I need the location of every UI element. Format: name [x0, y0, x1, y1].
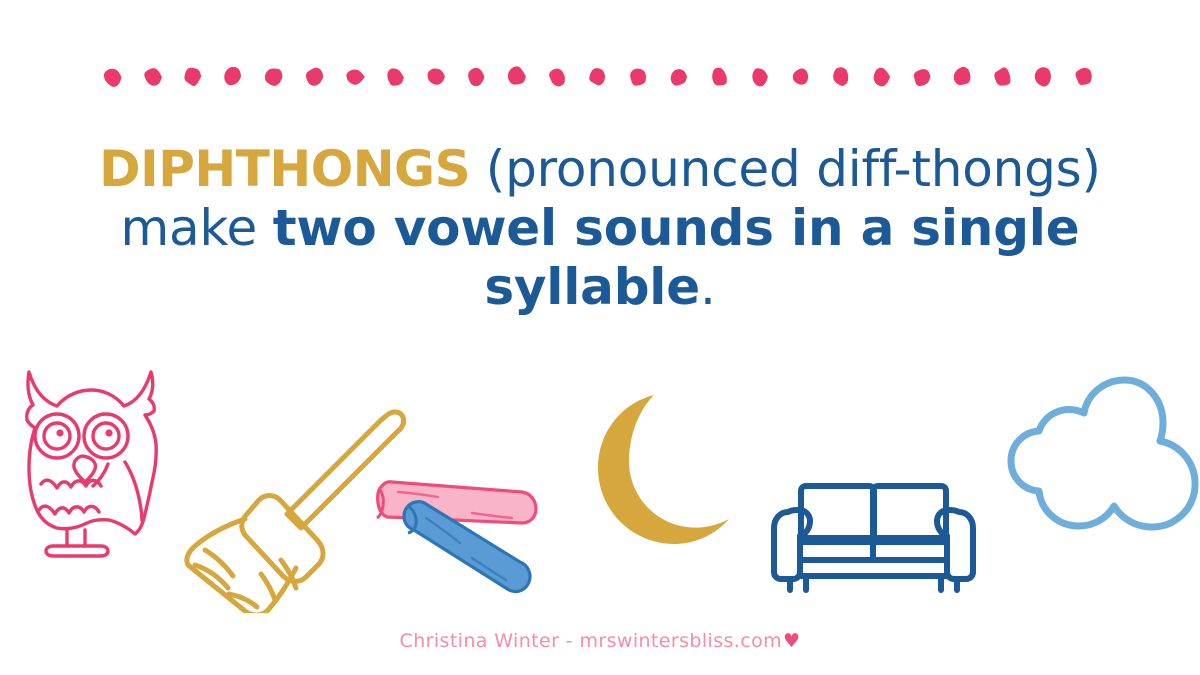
divider-dot	[549, 69, 565, 87]
divider-dot	[1035, 67, 1051, 86]
divider-dot	[833, 67, 848, 86]
heart-icon: ♥	[783, 630, 800, 652]
divider-dot	[874, 68, 891, 87]
divider-dot	[144, 68, 162, 86]
divider-dot	[1076, 68, 1092, 85]
divider-dot	[468, 68, 484, 86]
footer-credit: Christina Winter - mrswintersbliss.com♥	[0, 630, 1200, 652]
divider-dot	[104, 69, 122, 87]
page-title: DIPHTHONGS (pronounced diff-thongs) make…	[60, 140, 1140, 317]
chalk-illustration	[368, 466, 548, 599]
headline-line-3: syllable.	[60, 258, 1140, 317]
divider-dot	[265, 68, 283, 85]
divider-dot	[589, 68, 605, 85]
divider-dot	[793, 68, 808, 84]
divider-dot	[752, 68, 768, 86]
divider-dot	[630, 69, 646, 86]
cloud-illustration	[1003, 372, 1200, 547]
divider-dot	[224, 67, 241, 85]
headline-keyword: DIPHTHONGS	[99, 140, 470, 198]
slide-canvas: DIPHTHONGS (pronounced diff-thongs) make…	[0, 0, 1200, 675]
divider-dot	[387, 68, 404, 85]
headline-emphasis-2: syllable	[484, 258, 700, 316]
divider-dot	[671, 69, 687, 85]
divider-dot	[428, 68, 445, 84]
divider-dot	[712, 68, 727, 86]
headline-pronunciation: (pronounced diff-thongs)	[470, 140, 1101, 198]
divider-dot	[184, 68, 201, 86]
divider-dot	[994, 67, 1010, 85]
couch-illustration	[766, 476, 981, 601]
headline-emphasis-1: two vowel sounds in a single	[273, 199, 1080, 257]
headline-line-2: make two vowel sounds in a single	[60, 199, 1140, 258]
dotted-divider	[0, 62, 1200, 92]
divider-dot	[346, 69, 364, 84]
divider-dot	[508, 66, 526, 84]
headline-line-1: DIPHTHONGS (pronounced diff-thongs)	[60, 140, 1140, 199]
divider-dot	[306, 68, 323, 86]
divider-dot	[914, 69, 931, 86]
divider-dot	[954, 67, 971, 85]
owl-illustration	[5, 358, 175, 563]
credit-text: Christina Winter - mrswintersbliss.com	[400, 630, 783, 652]
moon-illustration	[592, 392, 732, 557]
headline-period: .	[700, 258, 716, 316]
headline-make: make	[121, 199, 273, 257]
